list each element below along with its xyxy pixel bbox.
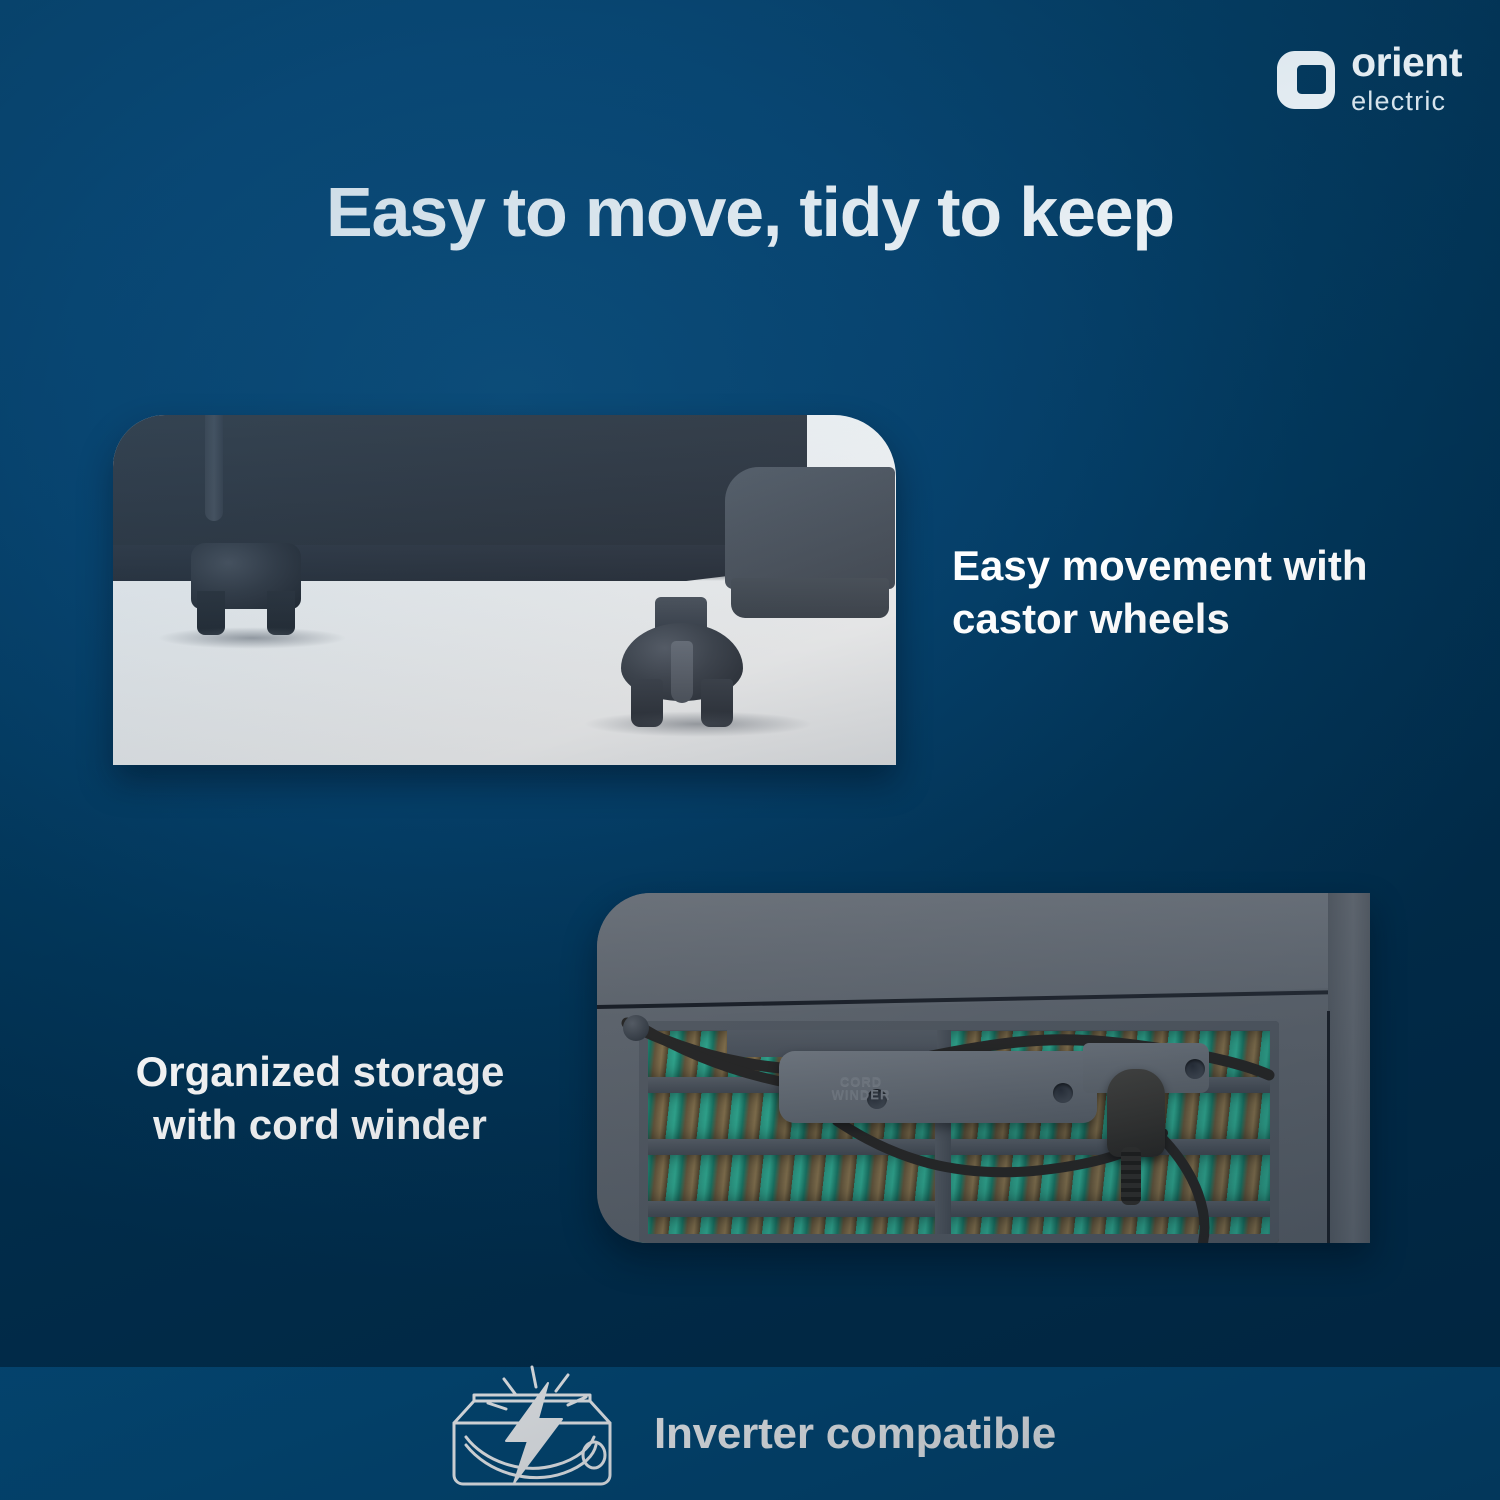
- cooler-body-shape: [113, 415, 807, 559]
- caption-line-1: Easy movement with: [952, 540, 1472, 593]
- brand-name-secondary: electric: [1351, 88, 1462, 115]
- feature-caption-castor-wheels: Easy movement with castor wheels: [952, 540, 1472, 646]
- power-plug-neck: [1121, 1147, 1141, 1205]
- feature-image-castor-wheels: [113, 415, 896, 765]
- inverter-compatible-label: Inverter compatible: [654, 1409, 1056, 1459]
- caption-line-2: with cord winder: [60, 1099, 580, 1152]
- fixed-wheel: [191, 543, 301, 635]
- embossed-line-2: WINDER: [811, 1088, 911, 1101]
- cooler-rib-detail: [205, 415, 223, 521]
- cord-winder-embossed-label: CORD WINDER: [811, 1075, 911, 1101]
- inverter-bolt-icon: [444, 1365, 620, 1497]
- cooler-panel-lip: [731, 578, 889, 618]
- floor-shadow-left: [157, 627, 347, 649]
- feature-image-cord-winder: CORD WINDER: [597, 893, 1370, 1243]
- brand-wordmark: orient electric: [1351, 42, 1462, 117]
- bracket-screw: [1053, 1083, 1073, 1103]
- cord-anchor-hook: [623, 1015, 649, 1041]
- power-plug: [1107, 1069, 1165, 1157]
- brand-name-primary: orient: [1351, 42, 1462, 83]
- bracket-screw: [1185, 1059, 1205, 1079]
- floor-shadow-right: [583, 711, 813, 737]
- page-title: Easy to move, tidy to keep: [0, 172, 1500, 252]
- castor-wheel: [621, 597, 743, 727]
- cooler-side-panel: [725, 467, 895, 589]
- castor-pin: [671, 641, 693, 703]
- brand-logo: orient electric: [1275, 42, 1462, 117]
- orient-electric-logo-mark-icon: [1275, 49, 1337, 111]
- caption-line-2: castor wheels: [952, 593, 1472, 646]
- infographic-canvas: orient electric Easy to move, tidy to ke…: [0, 0, 1500, 1500]
- feature-caption-cord-winder: Organized storage with cord winder: [60, 1046, 580, 1152]
- caption-line-1: Organized storage: [60, 1046, 580, 1099]
- inverter-compatible-bar: Inverter compatible: [0, 1367, 1500, 1500]
